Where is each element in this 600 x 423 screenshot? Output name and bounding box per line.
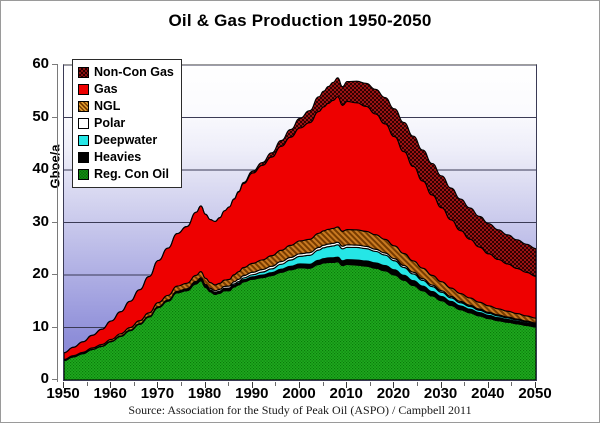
legend-item-label: NGL: [94, 100, 120, 113]
legend: Non-Con GasGasNGLPolarDeepwaterHeaviesRe…: [72, 59, 182, 188]
legend-swatch-icon: [78, 67, 89, 78]
x-tick-minor-mark: [87, 382, 88, 386]
y-tick-mark: [52, 379, 58, 380]
legend-swatch-icon: [78, 169, 89, 180]
x-tick-mark: [299, 382, 300, 388]
legend-swatch-icon: [78, 118, 89, 129]
x-tick-minor-mark: [134, 382, 135, 386]
legend-swatch-icon: [78, 84, 89, 95]
y-tick-label: 20: [9, 265, 49, 282]
x-tick-mark: [63, 382, 64, 388]
y-tick-mark: [52, 117, 58, 118]
x-tick-minor-mark: [323, 382, 324, 386]
legend-swatch-icon: [78, 135, 89, 146]
legend-item-label: Gas: [94, 83, 118, 96]
y-axis-title: Gboe/a: [48, 107, 63, 227]
x-tick-mark: [393, 382, 394, 388]
x-tick-minor-mark: [275, 382, 276, 386]
legend-item[interactable]: NGL: [78, 98, 174, 115]
legend-swatch-icon: [78, 101, 89, 112]
x-tick-mark: [535, 382, 536, 388]
x-tick-minor-mark: [370, 382, 371, 386]
legend-item[interactable]: Gas: [78, 81, 174, 98]
y-tick-mark: [52, 64, 58, 65]
y-tick-mark: [52, 222, 58, 223]
x-tick-mark: [252, 382, 253, 388]
legend-item-label: Deepwater: [94, 134, 157, 147]
legend-item-label: Reg. Con Oil: [94, 168, 169, 181]
x-tick-minor-mark: [181, 382, 182, 386]
source-note: Source: Association for the Study of Pea…: [1, 403, 599, 418]
legend-swatch-icon: [78, 152, 89, 163]
y-tick-label: 40: [9, 160, 49, 177]
y-axis-line: [57, 64, 58, 382]
y-tick-mark: [52, 274, 58, 275]
x-tick-mark: [205, 382, 206, 388]
y-tick-label: 60: [9, 55, 49, 72]
y-tick-label: 50: [9, 108, 49, 125]
y-tick-mark: [52, 169, 58, 170]
chart-frame: Oil & Gas Production 1950-2050 Gboe/a 01…: [0, 0, 600, 423]
legend-item-label: Polar: [94, 117, 125, 130]
x-tick-minor-mark: [511, 382, 512, 386]
legend-item-label: Non-Con Gas: [94, 66, 174, 79]
x-tick-mark: [110, 382, 111, 388]
legend-item-label: Heavies: [94, 151, 141, 164]
x-tick-mark: [346, 382, 347, 388]
y-tick-label: 30: [9, 213, 49, 230]
x-tick-minor-mark: [464, 382, 465, 386]
y-tick-mark: [52, 327, 58, 328]
legend-item[interactable]: Reg. Con Oil: [78, 166, 174, 183]
legend-item[interactable]: Heavies: [78, 149, 174, 166]
legend-item[interactable]: Deepwater: [78, 132, 174, 149]
legend-item[interactable]: Non-Con Gas: [78, 64, 174, 81]
y-tick-label: 10: [9, 318, 49, 335]
x-tick-mark: [488, 382, 489, 388]
x-tick-minor-mark: [417, 382, 418, 386]
page-title: Oil & Gas Production 1950-2050: [1, 11, 599, 31]
x-tick-minor-mark: [228, 382, 229, 386]
legend-item[interactable]: Polar: [78, 115, 174, 132]
x-tick-mark: [441, 382, 442, 388]
x-tick-mark: [157, 382, 158, 388]
